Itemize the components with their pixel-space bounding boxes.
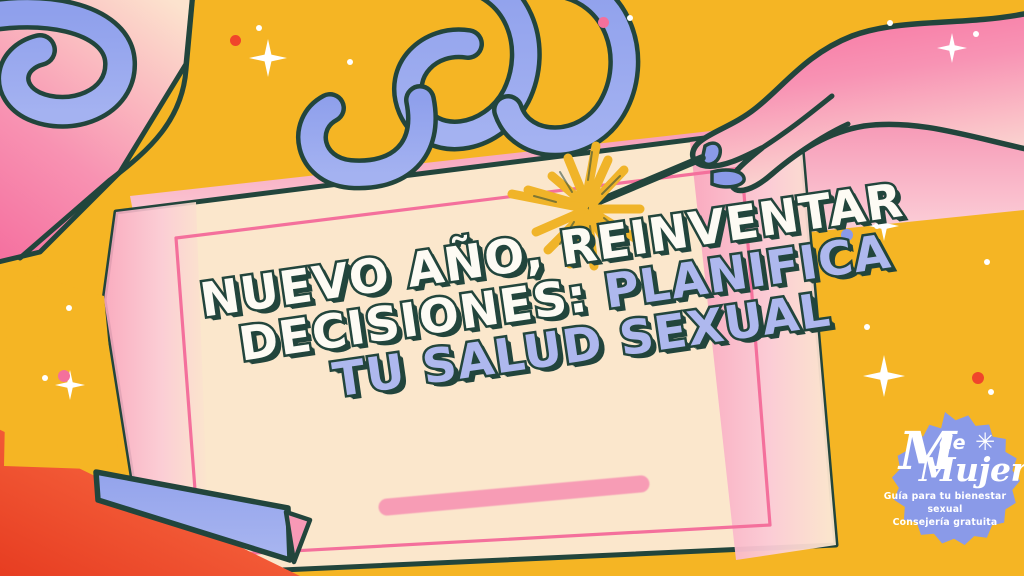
logo-tagline-1: Guía para tu bienestar sexual: [880, 490, 1010, 516]
fingernail: [702, 143, 720, 164]
yellow-patch-left: [4, 268, 120, 470]
blue-coiled-streamer: [312, 0, 624, 174]
poster-canvas: NUEVO AÑO, REINVENTAR DECISIONES: PLANIF…: [0, 0, 1024, 576]
logo-wordmark: M de ✳ Mujer: [893, 426, 997, 488]
logo-word-mujer: Mujer: [919, 453, 1024, 486]
fingernail: [712, 170, 744, 187]
logo-badge[interactable]: M de ✳ Mujer Guía para tu bienestar sexu…: [870, 412, 1020, 564]
logo-tagline-2: Consejería gratuita: [880, 516, 1010, 529]
